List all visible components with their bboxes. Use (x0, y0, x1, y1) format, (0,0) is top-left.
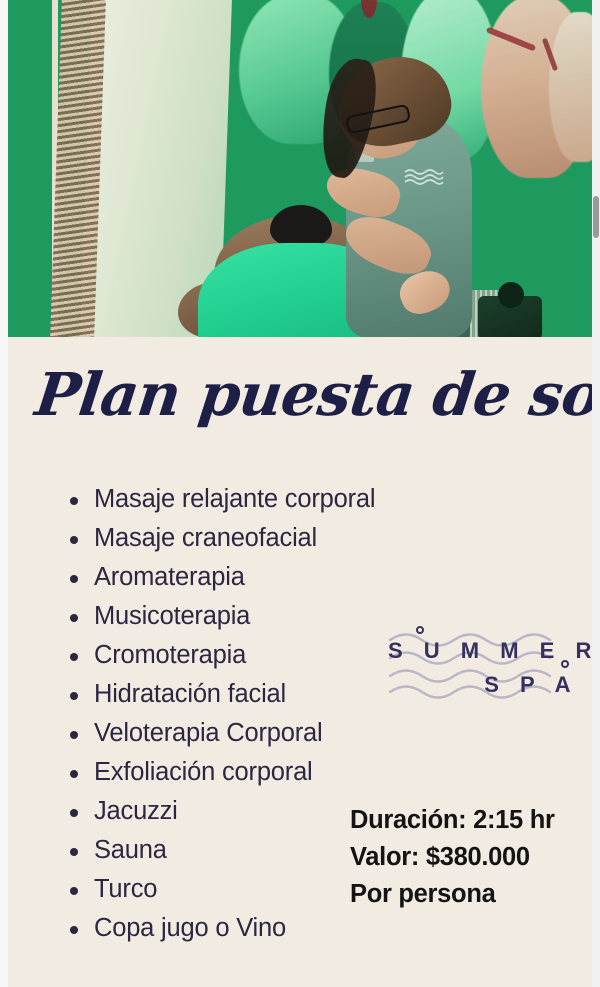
list-item-label: Masaje craneofacial (94, 524, 317, 552)
list-item-label: Aromaterapia (94, 563, 245, 591)
list-item-label: Jacuzzi (94, 797, 178, 825)
list-item-label: Sauna (94, 836, 167, 864)
list-item-label: Cromoterapia (94, 641, 246, 669)
list-item: Veloterapia Corporal (66, 714, 486, 753)
list-item-label: Hidratación facial (94, 680, 286, 708)
list-item: Masaje craneofacial (66, 519, 486, 558)
list-item: Masaje relajante corporal (66, 480, 486, 519)
client-head (270, 205, 332, 247)
wave-lines-icon (386, 618, 578, 704)
equipment-knob (498, 282, 524, 308)
list-item-label: Musicoterapia (94, 602, 250, 630)
screenshot-root: Plan puesta de sol Masaje relajante corp… (0, 0, 600, 987)
list-item-label: Veloterapia Corporal (94, 719, 322, 747)
summer-spa-logo: S U M M E R S P A (386, 618, 578, 704)
scrollbar-track[interactable] (592, 0, 600, 987)
hero-photo (8, 0, 592, 337)
uniform-wave-logo-icon (404, 168, 444, 186)
list-item: Copa jugo o Vino (66, 909, 486, 948)
pricing-block: Duración: 2:15 hr Valor: $380.000 Por pe… (350, 802, 592, 913)
page-title: Plan puesta de sol (31, 358, 580, 432)
list-item-label: Copa jugo o Vino (94, 914, 286, 942)
list-item-label: Masaje relajante corporal (94, 485, 375, 513)
list-item: Aromaterapia (66, 558, 486, 597)
value-text: Valor: $380.000 (350, 839, 592, 876)
scrollbar-thumb[interactable] (593, 196, 599, 238)
list-item: Exfoliación corporal (66, 753, 486, 792)
left-gutter (0, 0, 8, 987)
list-item-label: Turco (94, 875, 157, 903)
promo-card: Plan puesta de sol Masaje relajante corp… (8, 0, 592, 987)
per-person-text: Por persona (350, 876, 592, 913)
list-item-label: Exfoliación corporal (94, 758, 313, 786)
duration-text: Duración: 2:15 hr (350, 802, 592, 839)
